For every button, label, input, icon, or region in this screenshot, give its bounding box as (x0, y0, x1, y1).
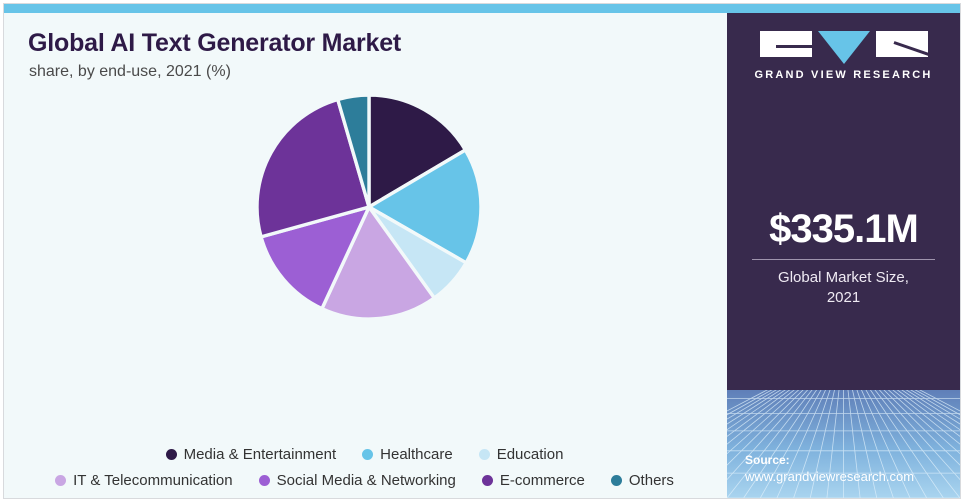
logo-r-mark-icon (876, 31, 928, 57)
legend-item-label: E-commerce (500, 472, 585, 489)
legend-item[interactable]: Healthcare (362, 446, 453, 463)
legend-color-dot-icon (362, 449, 373, 460)
stat-caption: Global Market Size, 2021 (727, 268, 960, 309)
top-accent-bar (4, 4, 960, 13)
legend-item[interactable]: Education (479, 446, 564, 463)
chart-panel: Global AI Text Generator Market share, b… (4, 13, 725, 498)
logo-v-triangle-icon (818, 31, 870, 64)
chart-legend: Media & Entertainment Healthcare Educati… (4, 441, 725, 493)
legend-item-label: Media & Entertainment (184, 446, 337, 463)
brand-name: GRAND VIEW RESEARCH (727, 69, 960, 81)
infographic-root: Global AI Text Generator Market share, b… (0, 0, 964, 502)
legend-row-2: IT & Telecommunication Social Media & Ne… (4, 467, 725, 493)
legend-color-dot-icon (55, 475, 66, 486)
brand-logo: GRAND VIEW RESEARCH (727, 31, 960, 81)
stat-divider (752, 259, 935, 260)
stat-caption-line-2: 2021 (727, 288, 960, 308)
legend-color-dot-icon (479, 449, 490, 460)
stat-caption-line-1: Global Market Size, (727, 268, 960, 288)
legend-item[interactable]: Social Media & Networking (259, 472, 456, 489)
pie-chart-svg (257, 95, 481, 319)
legend-item[interactable]: E-commerce (482, 472, 585, 489)
legend-color-dot-icon (611, 475, 622, 486)
legend-item-label: Others (629, 472, 674, 489)
legend-color-dot-icon (482, 475, 493, 486)
page-subtitle: share, by end-use, 2021 (%) (29, 63, 231, 81)
legend-item-label: Social Media & Networking (277, 472, 456, 489)
legend-row-1: Media & Entertainment Healthcare Educati… (4, 441, 725, 467)
legend-item[interactable]: Others (611, 472, 674, 489)
legend-item-label: Education (497, 446, 564, 463)
source-url[interactable]: www.grandviewresearch.com (745, 468, 914, 486)
legend-item-label: Healthcare (380, 446, 453, 463)
page-title: Global AI Text Generator Market (28, 29, 401, 58)
legend-item-label: IT & Telecommunication (73, 472, 233, 489)
market-size-stat: $335.1M Global Market Size, 2021 (727, 208, 960, 309)
stat-panel: GRAND VIEW RESEARCH $335.1M Global Marke… (727, 13, 960, 498)
stat-value: $335.1M (727, 208, 960, 250)
pie-slice-group (257, 95, 481, 319)
source-label: Source: (745, 452, 914, 468)
pie-chart (257, 95, 481, 319)
legend-item[interactable]: Media & Entertainment (166, 446, 337, 463)
source-note: Source: www.grandviewresearch.com (745, 452, 914, 486)
logo-marks (727, 31, 960, 59)
legend-color-dot-icon (166, 449, 177, 460)
logo-g-mark-icon (760, 31, 812, 57)
legend-item[interactable]: IT & Telecommunication (55, 472, 233, 489)
legend-color-dot-icon (259, 475, 270, 486)
